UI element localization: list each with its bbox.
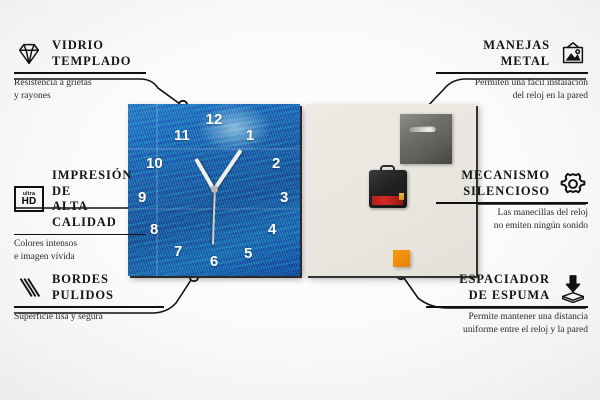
feature-foam-title-group: ESPACIADOR DE ESPUMA bbox=[459, 272, 550, 303]
feature-edges-title-group: BORDES PULIDOS bbox=[52, 272, 114, 303]
clock-numeral: 10 bbox=[146, 156, 163, 171]
feature-title: BORDES bbox=[52, 272, 114, 288]
hanger-slot bbox=[409, 126, 436, 132]
ultra-hd-main-label: HD bbox=[22, 197, 37, 207]
feature-desc: uniforme entre el reloj y la pared bbox=[426, 324, 588, 337]
feature-desc: Permite mantener una distancia bbox=[426, 311, 588, 324]
feature-foam-header: ESPACIADOR DE ESPUMA bbox=[426, 272, 588, 303]
feature-rule bbox=[14, 72, 146, 74]
feature-title: METAL bbox=[483, 54, 550, 70]
clock-numeral: 7 bbox=[174, 244, 182, 259]
feature-mechanism: MECANISMO SILENCIOSO Las manecillas del … bbox=[436, 168, 588, 233]
clock-numeral: 2 bbox=[272, 156, 280, 171]
feature-desc: Superficie lisa y segura bbox=[14, 311, 164, 324]
feature-title: SILENCIOSO bbox=[461, 184, 550, 200]
clock-numeral: 5 bbox=[244, 246, 252, 261]
feature-edges: BORDES PULIDOS Superficie lisa y segura bbox=[14, 272, 164, 324]
feature-desc: Las manecillas del reloj bbox=[436, 207, 588, 220]
feature-title: MECANISMO bbox=[461, 168, 550, 184]
feature-hooks: MANEJAS METAL Permiten una fácil instala… bbox=[436, 38, 588, 103]
feature-print-title-group: IMPRESIÓN DE ALTA CALIDAD bbox=[52, 168, 146, 231]
feature-desc: e imagen vívida bbox=[14, 251, 146, 264]
feature-desc: Permiten una fácil instalación bbox=[436, 77, 588, 90]
feature-glass-title-group: VIDRIO TEMPLADO bbox=[52, 38, 131, 69]
feature-desc: del reloj en la pared bbox=[436, 90, 588, 103]
foam-spacer bbox=[393, 250, 410, 267]
feature-mechanism-title-group: MECANISMO SILENCIOSO bbox=[461, 168, 550, 199]
clock-numeral: 3 bbox=[280, 190, 288, 205]
hanger-plate bbox=[400, 114, 452, 164]
feature-rule bbox=[14, 306, 164, 308]
clock-numeral: 11 bbox=[174, 128, 190, 143]
feature-mechanism-header: MECANISMO SILENCIOSO bbox=[436, 168, 588, 199]
ultra-hd-icon: ultra HD bbox=[14, 186, 44, 212]
diamond-icon bbox=[14, 39, 44, 69]
clock-numeral: 1 bbox=[246, 128, 254, 143]
feature-title: MANEJAS bbox=[483, 38, 550, 54]
feature-hooks-header: MANEJAS METAL bbox=[436, 38, 588, 69]
feature-desc: Resistencia a grietas bbox=[14, 77, 146, 90]
hanging-frame-icon bbox=[558, 39, 588, 69]
feature-title: VIDRIO bbox=[52, 38, 131, 54]
feature-rule bbox=[436, 202, 588, 204]
clock-numeral: 4 bbox=[268, 222, 276, 237]
feature-print: ultra HD IMPRESIÓN DE ALTA CALIDAD Color… bbox=[14, 168, 146, 265]
feature-title: ESPACIADOR bbox=[459, 272, 550, 288]
clock-numeral: 12 bbox=[206, 112, 223, 127]
clock-numeral: 6 bbox=[210, 254, 218, 269]
feature-title: DE ESPUMA bbox=[459, 288, 550, 304]
battery bbox=[372, 196, 403, 205]
feature-title: TEMPLADO bbox=[52, 54, 131, 70]
feature-title: IMPRESIÓN DE bbox=[52, 168, 146, 199]
polished-edges-icon bbox=[14, 273, 44, 303]
clock-second-hand bbox=[212, 191, 215, 245]
gear-icon bbox=[558, 169, 588, 199]
feature-desc: Colores intensos bbox=[14, 238, 146, 251]
feature-foam: ESPACIADOR DE ESPUMA Permite mantener un… bbox=[426, 272, 588, 337]
clock-center-cap bbox=[211, 186, 218, 193]
feature-rule bbox=[436, 72, 588, 74]
infographic-canvas: 12 1 2 3 4 5 6 7 8 9 10 11 VI bbox=[0, 0, 600, 400]
feature-desc: no emiten ningún sonido bbox=[436, 220, 588, 233]
feature-glass: VIDRIO TEMPLADO Resistencia a grietas y … bbox=[14, 38, 146, 103]
feature-desc: y rayones bbox=[14, 90, 146, 103]
feature-hooks-title-group: MANEJAS METAL bbox=[483, 38, 550, 69]
feature-print-header: ultra HD IMPRESIÓN DE ALTA CALIDAD bbox=[14, 168, 146, 231]
feature-rule bbox=[426, 306, 588, 308]
clock-numeral: 8 bbox=[150, 222, 158, 237]
feature-glass-header: VIDRIO TEMPLADO bbox=[14, 38, 146, 69]
feature-rule bbox=[14, 234, 146, 236]
clock-numeral: 9 bbox=[138, 190, 146, 205]
clock-minute-hand bbox=[212, 149, 242, 191]
feature-title: ALTA CALIDAD bbox=[52, 199, 146, 230]
clock-front-face: 12 1 2 3 4 5 6 7 8 9 10 11 bbox=[128, 104, 300, 276]
feature-title: PULIDOS bbox=[52, 288, 114, 304]
press-down-arrow-icon bbox=[558, 273, 588, 303]
feature-edges-header: BORDES PULIDOS bbox=[14, 272, 164, 303]
